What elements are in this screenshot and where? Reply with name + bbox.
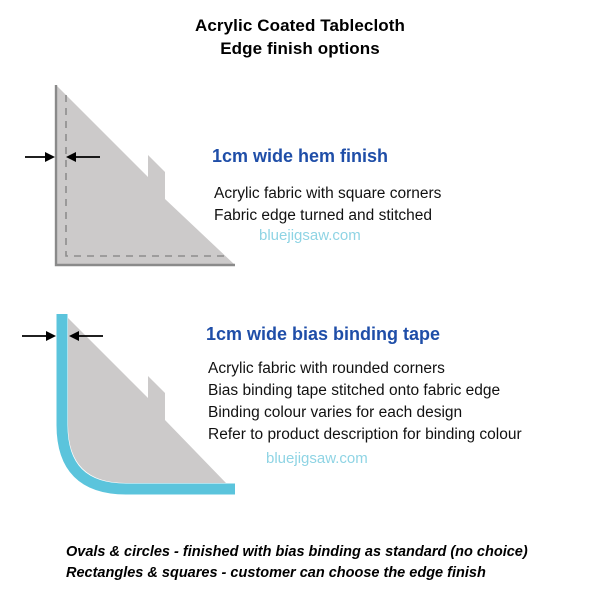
footer-note-line-1: Ovals & circles - finished with bias bin…	[66, 544, 528, 560]
title-line-1: Acrylic Coated Tablecloth	[0, 14, 600, 37]
fabric-edge-line-square	[56, 85, 235, 265]
fabric-shape-rounded-corner	[68, 318, 226, 483]
measurement-arrows-square	[25, 152, 100, 162]
bias-description-line-1: Acrylic fabric with rounded corners	[208, 358, 445, 379]
infographic-canvas: Acrylic Coated Tablecloth Edge finish op…	[0, 0, 600, 600]
square-corner-tablecloth-diagram	[0, 0, 600, 600]
section-heading-bias-binding: 1cm wide bias binding tape	[206, 324, 440, 345]
hem-description-line-1: Acrylic fabric with square corners	[214, 183, 441, 204]
stitch-line-square	[66, 95, 226, 256]
footer-note-line-2: Rectangles & squares - customer can choo…	[66, 565, 486, 581]
measurement-arrows-rounded	[22, 331, 103, 341]
page-title: Acrylic Coated Tablecloth Edge finish op…	[0, 14, 600, 60]
rounded-corner-tablecloth-diagram	[0, 0, 600, 600]
website-link-hem[interactable]: bluejigsaw.com	[259, 227, 361, 244]
hem-description-line-2: Fabric edge turned and stitched	[214, 205, 432, 226]
fabric-shape-square-corner	[56, 85, 235, 265]
bias-description-line-3: Binding colour varies for each design	[208, 402, 462, 423]
website-link-bias[interactable]: bluejigsaw.com	[266, 450, 368, 467]
bias-description-line-4: Refer to product description for binding…	[208, 424, 522, 445]
title-line-2: Edge finish options	[0, 37, 600, 60]
section-heading-hem-finish: 1cm wide hem finish	[212, 146, 388, 167]
bias-description-line-2: Bias binding tape stitched onto fabric e…	[208, 380, 500, 401]
